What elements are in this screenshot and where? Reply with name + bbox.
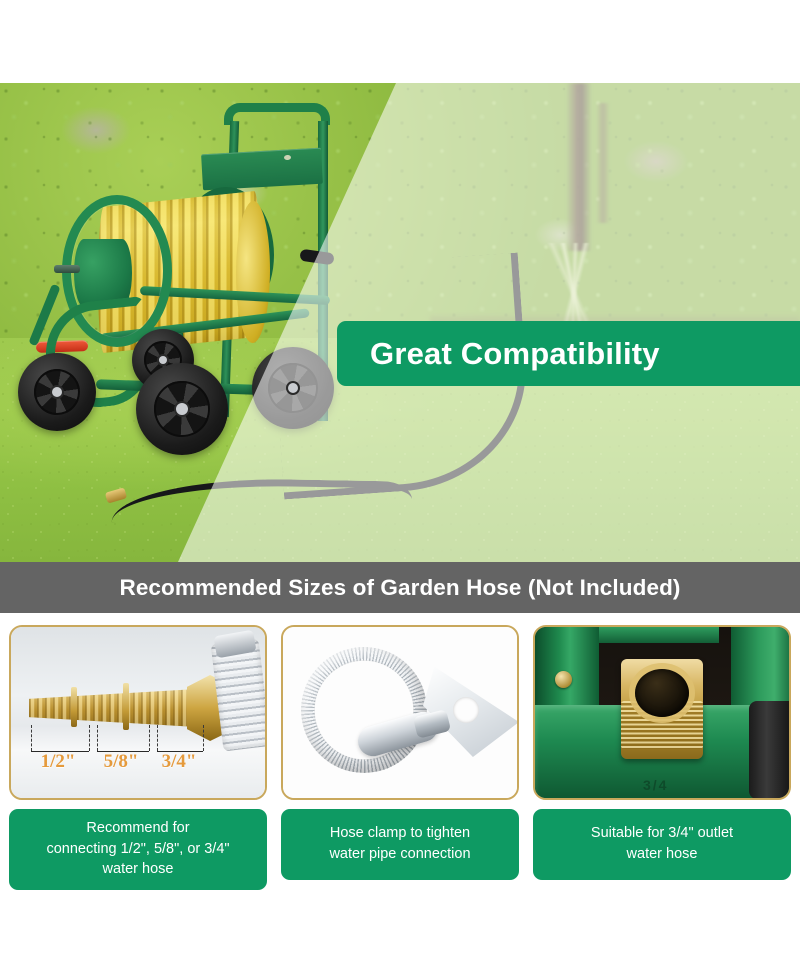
cart-handle-bar bbox=[224, 103, 330, 125]
feature-panel-3: 3/4 Suitable for 3/4" outlet water hose bbox=[533, 625, 791, 880]
clamp-band-shading bbox=[301, 647, 427, 773]
green-frame-top-tube bbox=[599, 627, 719, 643]
feature-panels: 1/2" 5/8" 3/4" Recommend for connecting … bbox=[0, 625, 800, 880]
size-label-three-quarters: 3/4" bbox=[151, 751, 207, 773]
wheel-front-left bbox=[18, 353, 96, 431]
dim-tick-5 bbox=[157, 725, 158, 751]
subtitle-text: Recommended Sizes of Garden Hose (Not In… bbox=[119, 575, 680, 601]
black-rubber-cap bbox=[749, 701, 791, 799]
caption-1-line-2: connecting 1/2", 5/8", or 3/4" bbox=[46, 839, 229, 860]
frame-screw-head bbox=[555, 671, 572, 688]
caption-3-line-1: Suitable for 3/4" outlet bbox=[591, 823, 733, 844]
feature-panel-2: Hose clamp to tighten water pipe connect… bbox=[281, 625, 519, 880]
dim-tick-2 bbox=[89, 725, 90, 751]
dim-tick-3 bbox=[97, 725, 98, 751]
size-label-five-eighths: 5/8" bbox=[91, 751, 151, 773]
subtitle-band: Recommended Sizes of Garden Hose (Not In… bbox=[0, 562, 800, 613]
barb-step-2 bbox=[123, 683, 129, 730]
feature-caption-3: Suitable for 3/4" outlet water hose bbox=[533, 809, 791, 880]
hero-photo: Great Compatibility bbox=[0, 83, 800, 562]
feature-photo-2 bbox=[281, 625, 519, 800]
size-labels: 1/2" 5/8" 3/4" bbox=[25, 751, 225, 773]
size-label-half: 1/2" bbox=[25, 751, 91, 773]
caption-3-line-2: water hose bbox=[591, 844, 733, 865]
cart-back-plate bbox=[201, 148, 323, 191]
headline-text: Great Compatibility bbox=[337, 336, 660, 372]
reel-hub bbox=[74, 239, 132, 307]
barb-step-1 bbox=[71, 687, 77, 727]
product-feature-image: Great Compatibility Recommended Sizes of… bbox=[0, 0, 800, 977]
feature-photo-1: 1/2" 5/8" 3/4" bbox=[9, 625, 267, 800]
frame-embossed-text: 3/4 bbox=[643, 777, 668, 793]
dim-tick-6 bbox=[203, 725, 204, 751]
wheel-front-right bbox=[136, 363, 228, 455]
caption-2-line-2: water pipe connection bbox=[329, 844, 470, 865]
feature-panel-1: 1/2" 5/8" 3/4" Recommend for connecting … bbox=[9, 625, 267, 890]
brass-hose-tip bbox=[105, 487, 127, 503]
caption-1-line-3: water hose bbox=[46, 859, 229, 880]
feature-caption-2: Hose clamp to tighten water pipe connect… bbox=[281, 809, 519, 880]
caption-1-line-1: Recommend for bbox=[46, 818, 229, 839]
feature-photo-3: 3/4 bbox=[533, 625, 791, 800]
clamp-key-hole bbox=[453, 697, 479, 723]
dim-tick-1 bbox=[31, 725, 32, 751]
dim-tick-4 bbox=[149, 725, 150, 751]
headline-banner: Great Compatibility bbox=[337, 321, 800, 386]
reel-axle bbox=[54, 265, 80, 273]
caption-2-line-1: Hose clamp to tighten bbox=[329, 823, 470, 844]
brass-outlet-bore bbox=[635, 669, 689, 717]
feature-caption-1: Recommend for connecting 1/2", 5/8", or … bbox=[9, 809, 267, 890]
